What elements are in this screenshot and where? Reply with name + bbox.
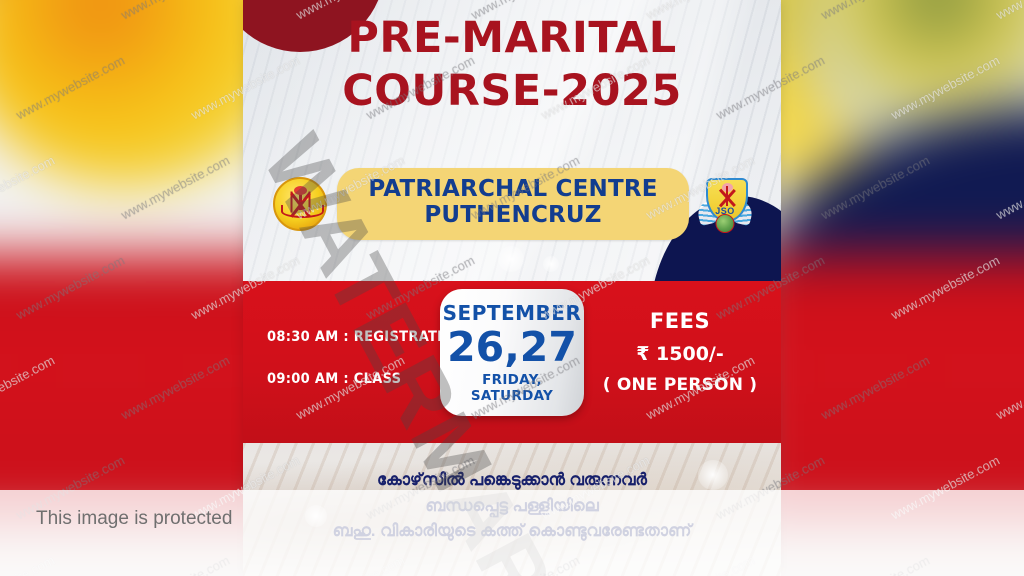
title-line-1: PRE-MARITAL	[243, 16, 781, 61]
poster-title: PRE-MARITAL COURSE-2025	[243, 16, 781, 114]
patriarchal-seal-icon	[273, 177, 327, 231]
bokeh-dot	[498, 246, 524, 272]
schedule-item: 08:30 AM : REGISTRATION	[267, 329, 467, 345]
venue-banner: PATRIARCHAL CENTRE PUTHENCRUZ	[337, 168, 689, 240]
venue-banner-row: PATRIARCHAL CENTRE PUTHENCRUZ JSO	[243, 168, 781, 240]
details-red-band: 08:30 AM : REGISTRATION 09:00 AM : CLASS…	[243, 281, 781, 443]
protection-message: This image is protected	[36, 508, 232, 530]
fees-note: ( ONE PERSON )	[595, 375, 765, 395]
fees-block: FEES ₹ 1500/- ( ONE PERSON )	[595, 309, 765, 395]
schedule-list: 08:30 AM : REGISTRATION 09:00 AM : CLASS	[267, 329, 467, 413]
date-days: 26,27	[447, 327, 577, 368]
schedule-item: 09:00 AM : CLASS	[267, 371, 467, 387]
protection-overlay-bar	[0, 490, 1024, 576]
shield-globe	[716, 214, 735, 233]
screenshot-canvas: PRE-MARITAL COURSE-2025 PATRIARCHAL CENT…	[0, 0, 1024, 576]
seal-head	[294, 186, 307, 195]
venue-line-2: PUTHENCRUZ	[363, 203, 663, 229]
jso-shield-icon: JSO	[699, 176, 751, 232]
bokeh-dot	[543, 256, 559, 272]
title-line-2: COURSE-2025	[243, 69, 781, 114]
venue-line-1: PATRIARCHAL CENTRE	[363, 177, 663, 203]
date-card: SEPTEMBER 26,27 FRIDAY, SATURDAY	[440, 289, 584, 416]
fees-amount: ₹ 1500/-	[595, 343, 765, 365]
date-month: SEPTEMBER	[443, 301, 582, 325]
date-weekdays: FRIDAY, SATURDAY	[440, 372, 584, 404]
fees-title: FEES	[595, 309, 765, 333]
